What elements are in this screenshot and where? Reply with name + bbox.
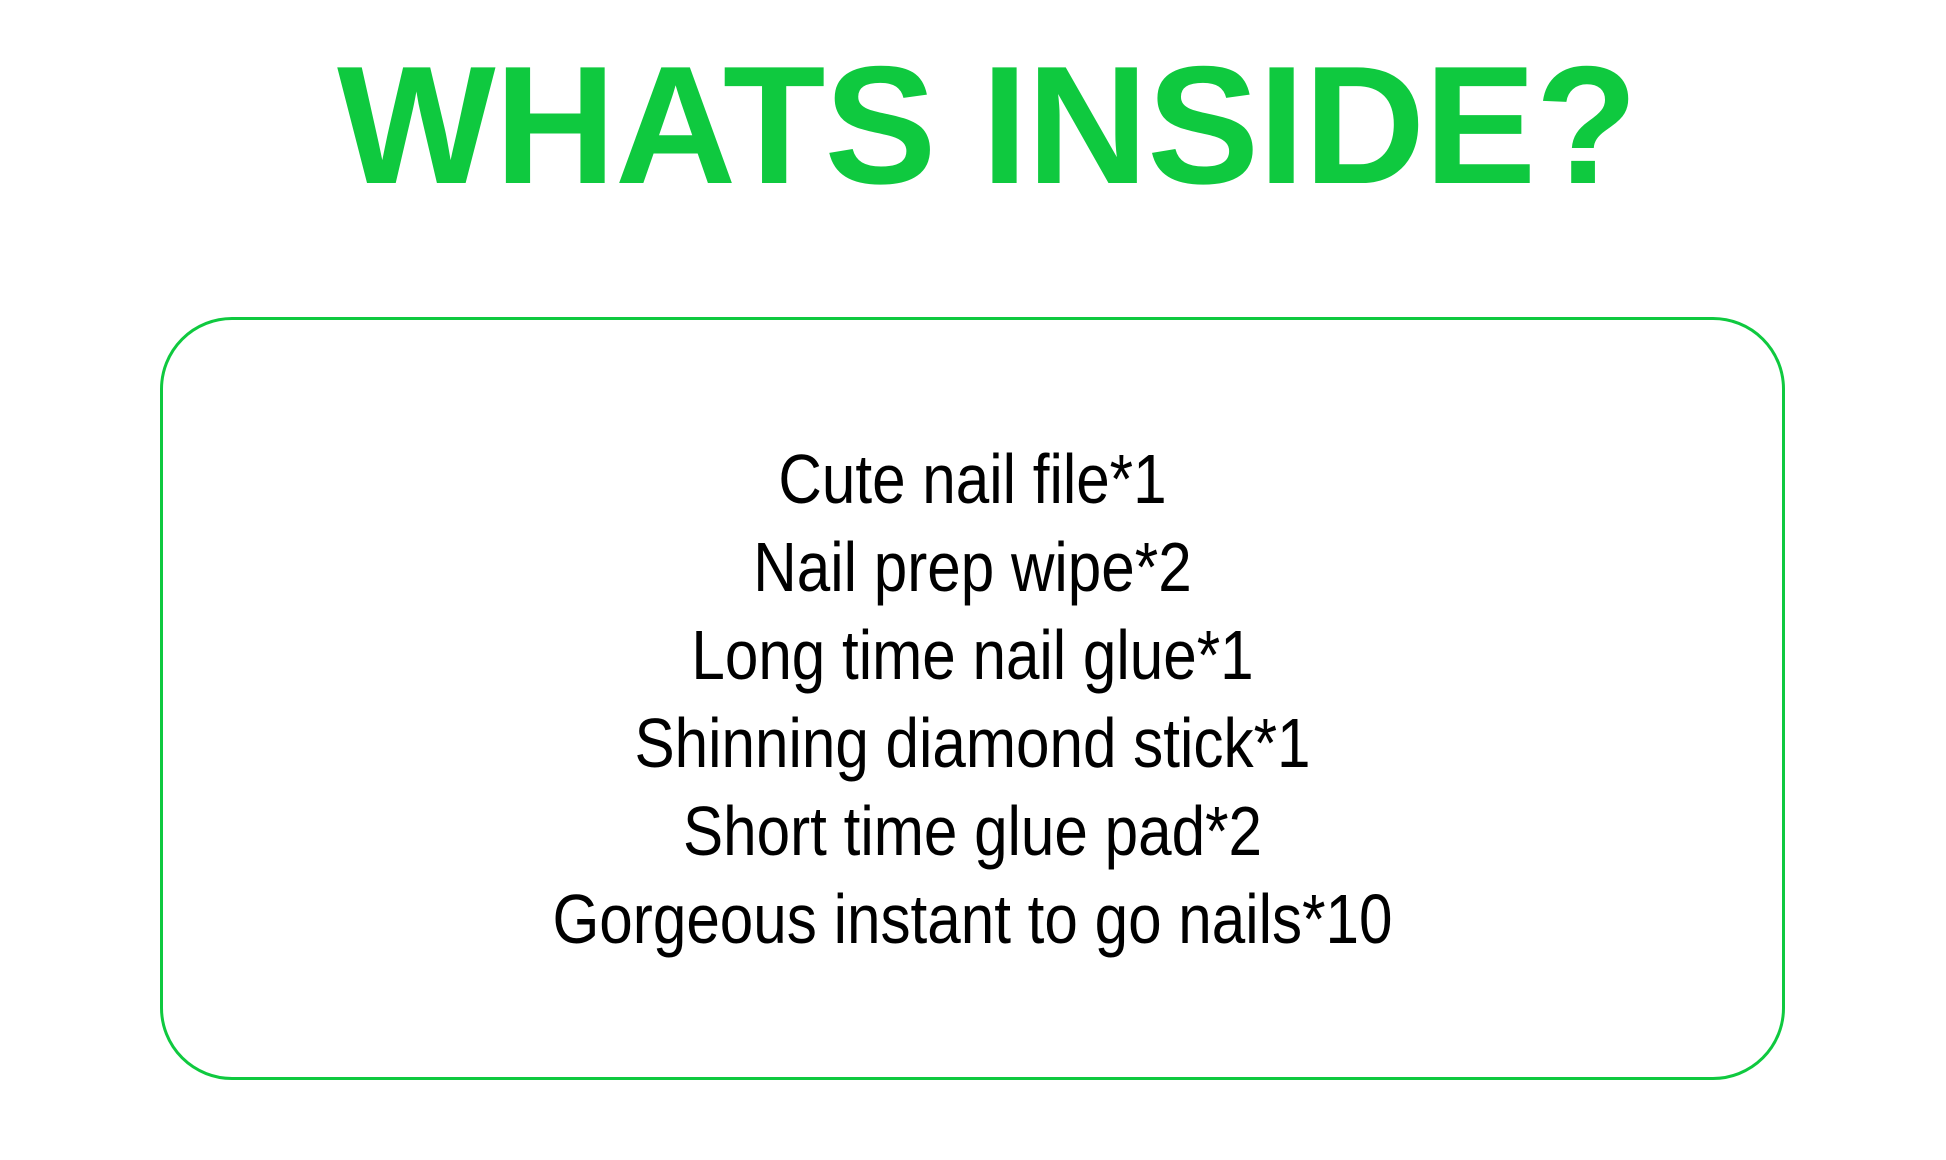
list-item: Cute nail file*1 <box>276 435 1668 523</box>
list-item: Shinning diamond stick*1 <box>276 699 1668 787</box>
list-item: Gorgeous instant to go nails*10 <box>276 875 1668 963</box>
contents-list: Cute nail file*1 Nail prep wipe*2 Long t… <box>163 435 1782 963</box>
contents-card: Cute nail file*1 Nail prep wipe*2 Long t… <box>160 317 1785 1080</box>
list-item: Long time nail glue*1 <box>276 611 1668 699</box>
list-item: Nail prep wipe*2 <box>276 523 1668 611</box>
list-item: Short time glue pad*2 <box>276 787 1668 875</box>
title-area: WHATS INSIDE? <box>0 0 1946 250</box>
product-infographic-page: WHATS INSIDE? Cute nail file*1 Nail prep… <box>0 0 1946 1160</box>
page-title: WHATS INSIDE? <box>337 41 1637 209</box>
